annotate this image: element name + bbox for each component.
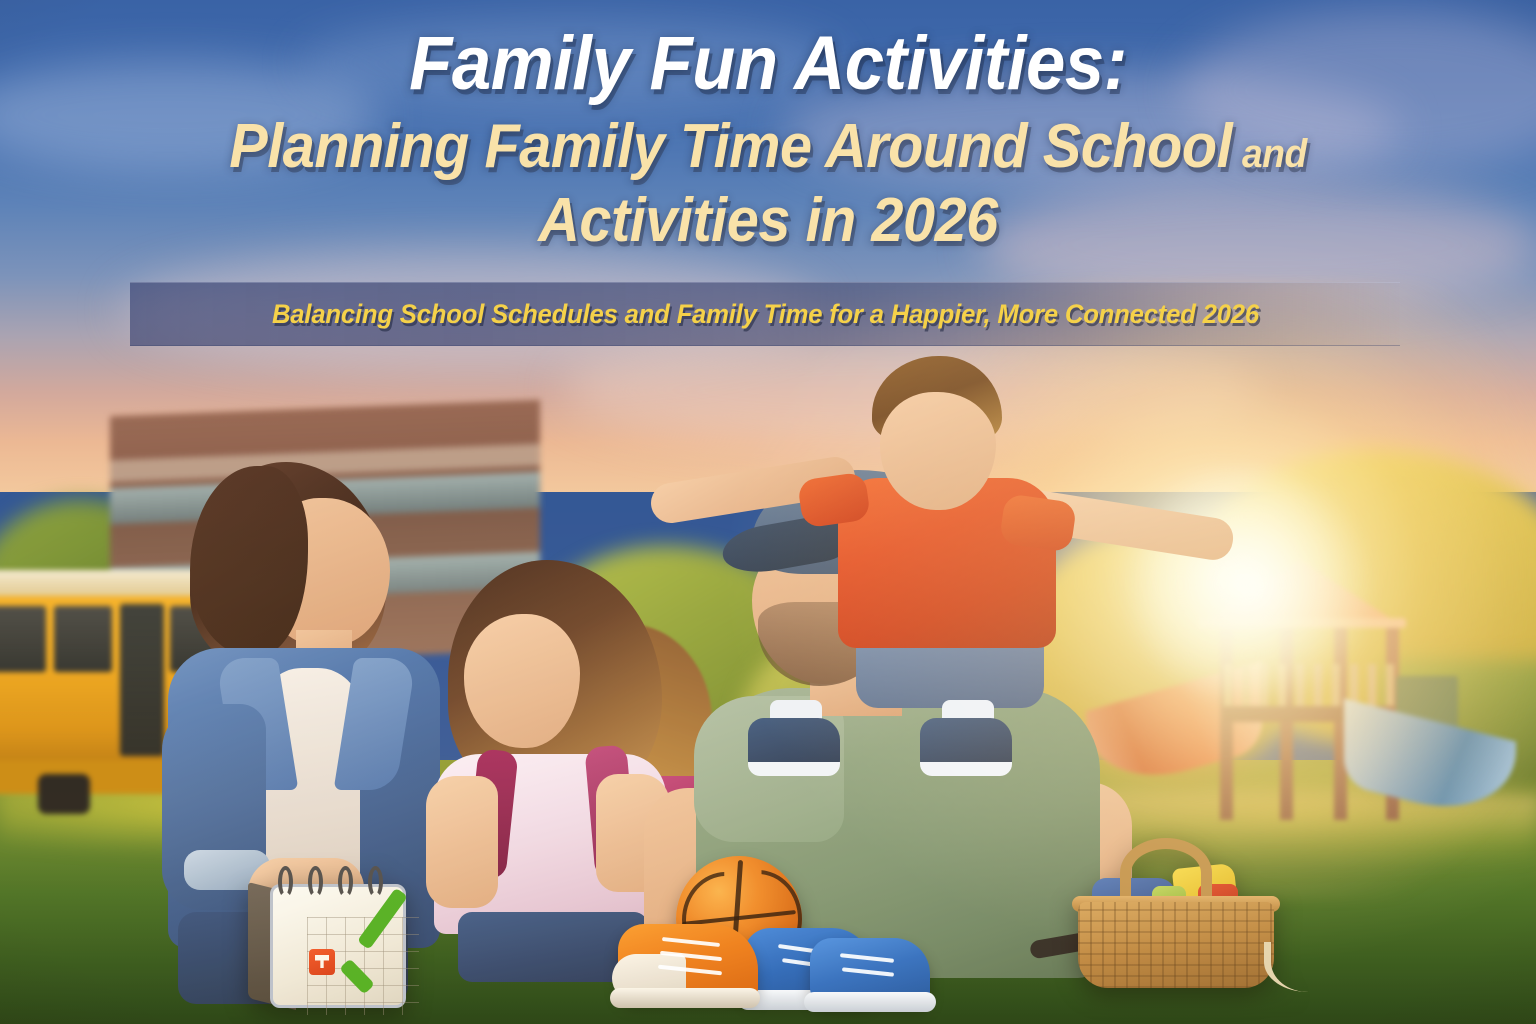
playground-roof bbox=[1204, 560, 1396, 622]
blue-sneaker-front-lace-1 bbox=[840, 953, 894, 963]
mother-hair-front bbox=[190, 466, 308, 656]
calendar-spiral-2 bbox=[308, 866, 323, 898]
son-shoe-sole-left bbox=[748, 762, 840, 776]
blue-sneaker-front-sole bbox=[804, 992, 936, 1012]
page-title-line-2-small bbox=[1232, 132, 1242, 176]
hero-banner: Family Fun Activities: Planning Family T… bbox=[0, 0, 1536, 1024]
calendar-icon bbox=[248, 866, 408, 1012]
page-title-line-3: Activities in 2026 bbox=[54, 190, 1482, 252]
page-title-line-2-main: Planning Family Time Around School bbox=[229, 112, 1232, 181]
daughter-face bbox=[464, 614, 580, 748]
blue-sneaker-front-lace-2 bbox=[842, 967, 894, 976]
daughter-arm-left bbox=[426, 776, 498, 908]
orange-sneaker-lace-1 bbox=[662, 937, 720, 947]
orange-sneaker bbox=[618, 924, 758, 1000]
calendar-checkmark-icon bbox=[335, 933, 421, 1013]
bus-door bbox=[120, 604, 164, 756]
orange-sneaker-sole bbox=[610, 988, 760, 1008]
person-son bbox=[760, 352, 1230, 772]
tagline-bar: Balancing School Schedules and Family Ti… bbox=[130, 282, 1400, 346]
picnic-basket bbox=[1078, 864, 1274, 992]
page-title-line-1: Family Fun Activities: bbox=[54, 26, 1482, 102]
calendar-page bbox=[270, 884, 406, 1008]
son-shoe-sole-right bbox=[920, 762, 1012, 776]
page-title-line-2: Planning Family Time Around School and bbox=[54, 116, 1482, 178]
tagline-text: Balancing School Schedules and Family Ti… bbox=[272, 299, 1259, 330]
page-title-conjunction: and bbox=[1242, 132, 1307, 176]
calendar-date-marker bbox=[309, 949, 335, 975]
calendar-spiral-1 bbox=[278, 866, 293, 898]
calendar-spiral-3 bbox=[338, 866, 353, 898]
basket-woven-body bbox=[1078, 902, 1274, 988]
calendar-spiral-4 bbox=[368, 866, 383, 898]
bus-window-2 bbox=[54, 606, 112, 672]
header-text-block: Family Fun Activities: Planning Family T… bbox=[0, 26, 1536, 252]
blue-sneaker-front bbox=[810, 938, 930, 1004]
bus-wheel-rear bbox=[38, 774, 90, 814]
bus-window-1 bbox=[0, 606, 46, 672]
playground-railing bbox=[1224, 664, 1394, 710]
